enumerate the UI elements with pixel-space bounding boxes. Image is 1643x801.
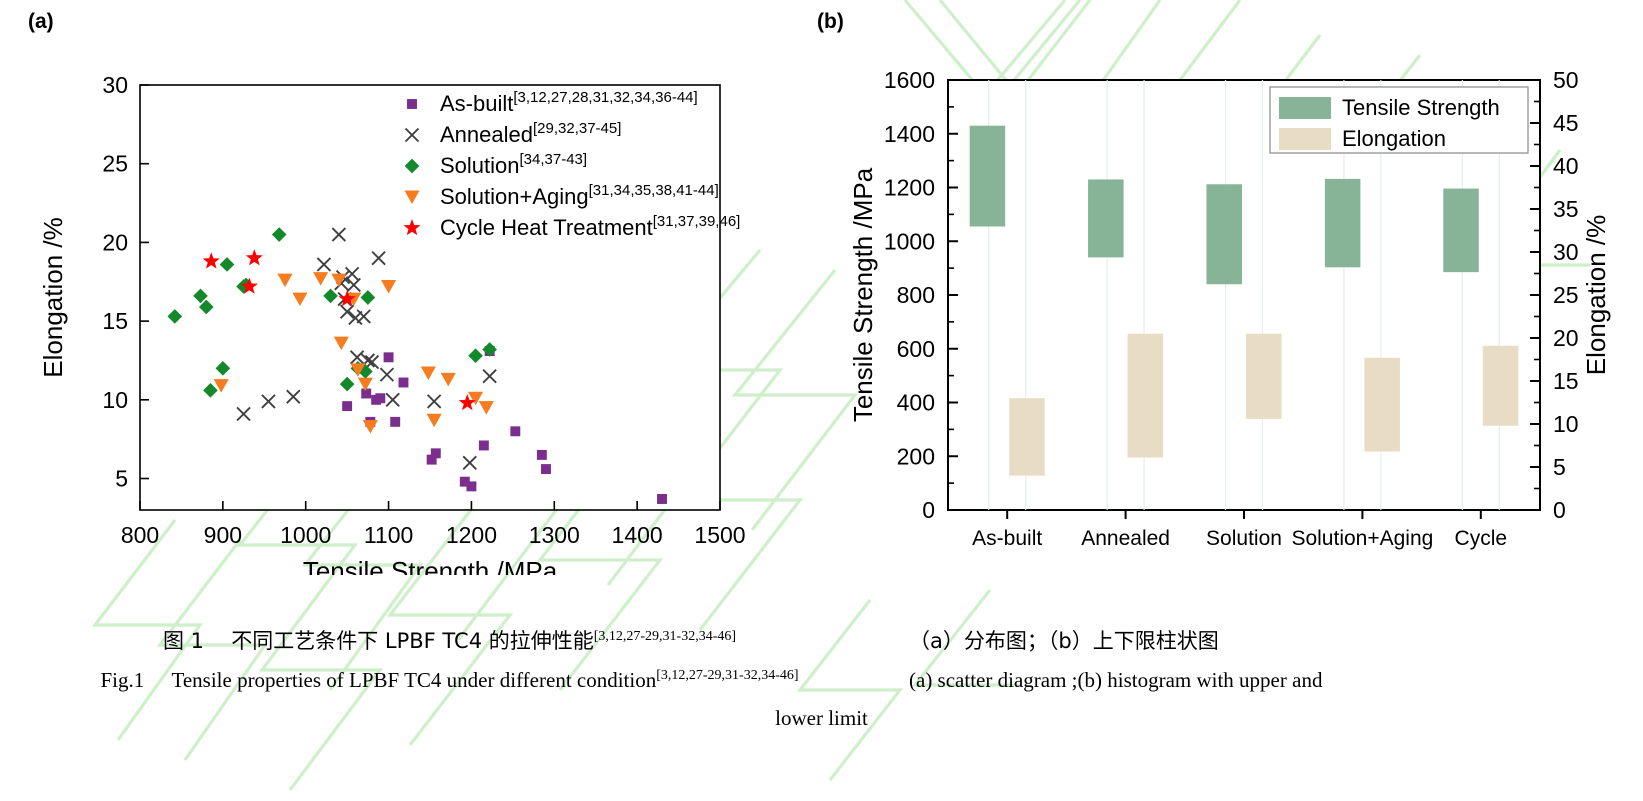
elongation-bar <box>1483 346 1519 426</box>
legend-swatch <box>1279 128 1331 150</box>
bar-legend: Tensile StrengthElongation <box>1270 87 1528 153</box>
marker-square <box>479 441 489 451</box>
legend-refs: [31,37,39,46] <box>653 213 741 230</box>
y-left-tick-label: 400 <box>897 390 935 416</box>
caption-cn-title: 不同工艺条件下 LPBF TC4 的拉伸性能 <box>231 629 594 653</box>
x-tick-label: 1300 <box>529 522 580 548</box>
y-left-axis-title: Tensile Strength /MPa <box>848 167 878 422</box>
scatter-svg: 8009001000110012001300140015005101520253… <box>20 55 780 575</box>
y-left-tick-label: 200 <box>897 443 935 469</box>
caption-cn-fig-no: 图 1 <box>163 629 204 653</box>
tensile-bar <box>1206 184 1242 284</box>
marker-square <box>657 494 667 504</box>
y-right-tick-label: 10 <box>1553 411 1579 437</box>
y-right-tick-label: 25 <box>1553 282 1579 308</box>
y-left-tick-label: 0 <box>922 497 935 523</box>
marker-square <box>375 393 385 403</box>
tensile-bar <box>1325 179 1361 267</box>
y-left-tick-label: 1600 <box>884 67 935 93</box>
bar-chart-panel-b: 0200400600800100012001400160005101520253… <box>840 55 1630 575</box>
marker-square <box>541 464 551 474</box>
x-tick-label: 1200 <box>446 522 497 548</box>
x-tick-label: 1000 <box>280 522 331 548</box>
legend-refs: [31,34,35,38,41-44] <box>589 182 719 199</box>
tensile-bar <box>1088 179 1124 257</box>
x-category-label: Cycle <box>1455 527 1508 550</box>
y-tick-label: 30 <box>102 72 128 98</box>
y-axis-title: Elongation /% <box>38 217 68 377</box>
y-right-tick-label: 0 <box>1553 497 1566 523</box>
marker-square <box>342 401 352 411</box>
marker-square <box>361 389 371 399</box>
y-left-tick-label: 1000 <box>884 228 935 254</box>
marker-square <box>407 99 417 109</box>
x-tick-label: 1400 <box>612 522 663 548</box>
x-category-label: Solution <box>1206 527 1282 550</box>
caption-en-fig-no: Fig.1 <box>100 668 144 692</box>
x-tick-label: 800 <box>121 522 159 548</box>
plot-frame <box>140 85 720 510</box>
y-tick-label: 5 <box>115 466 128 492</box>
marker-square <box>431 448 441 458</box>
legend-refs: [34,37-43] <box>520 151 588 168</box>
legend-label: Tensile Strength <box>1342 95 1500 120</box>
caption-cn-subtitle: （a）分布图；（b）上下限柱状图 <box>905 625 1643 655</box>
marker-square <box>537 450 547 460</box>
marker-square <box>390 417 400 427</box>
y-tick-label: 10 <box>102 387 128 413</box>
tensile-bar <box>1443 189 1479 273</box>
x-tick-label: 1500 <box>694 522 745 548</box>
y-right-tick-label: 40 <box>1553 153 1579 179</box>
y-right-tick-label: 5 <box>1553 454 1566 480</box>
y-right-tick-label: 35 <box>1553 196 1579 222</box>
elongation-bar <box>1009 398 1045 475</box>
x-category-label: Annealed <box>1081 527 1170 550</box>
y-right-tick-label: 20 <box>1553 325 1579 351</box>
x-tick-label: 1100 <box>364 522 413 548</box>
legend-swatch <box>1279 97 1331 119</box>
y-left-tick-label: 800 <box>897 282 935 308</box>
y-left-tick-label: 1200 <box>884 175 935 201</box>
elongation-bar <box>1246 334 1282 419</box>
panel-a-tag: (a) <box>28 10 54 34</box>
marker-square <box>510 426 520 436</box>
caption-en-title: Tensile properties of LPBF TC4 under dif… <box>171 668 656 692</box>
legend-refs: [3,12,27,28,31,32,34,36-44] <box>513 89 697 106</box>
legend-label: Elongation <box>1342 126 1446 151</box>
y-right-axis-title: Elongation /% <box>1581 215 1611 375</box>
y-right-tick-label: 15 <box>1553 368 1579 394</box>
scatter-chart-panel-a: 8009001000110012001300140015005101520253… <box>20 55 780 575</box>
marker-square <box>466 481 476 491</box>
x-category-label: As-built <box>972 527 1042 550</box>
marker-square <box>384 352 394 362</box>
caption-en-refs: [3,12,27-29,31-32,34-46] <box>656 668 798 683</box>
x-axis-title: Tensile Strength /MPa <box>303 556 558 575</box>
elongation-bar <box>1128 334 1164 458</box>
panel-b-tag: (b) <box>817 10 844 34</box>
y-right-tick-label: 30 <box>1553 239 1579 265</box>
marker-square <box>399 378 409 388</box>
y-left-tick-label: 1400 <box>884 121 935 147</box>
caption-en-line: Fig.1 Tensile properties of LPBF TC4 und… <box>0 668 905 693</box>
caption-cn-line: 图 1 不同工艺条件下 LPBF TC4 的拉伸性能[3,12,27-29,31… <box>0 625 905 655</box>
tensile-bar <box>970 126 1006 227</box>
y-tick-label: 15 <box>102 308 128 334</box>
legend-refs: [29,32,37-45] <box>533 120 621 137</box>
y-tick-label: 25 <box>102 151 128 177</box>
x-category-label: Solution+Aging <box>1291 527 1433 550</box>
y-right-tick-label: 45 <box>1553 110 1579 136</box>
y-right-tick-label: 50 <box>1553 67 1579 93</box>
caption-en-subtitle-2: lower limit <box>0 706 1643 731</box>
elongation-bar <box>1364 358 1400 452</box>
caption-en-subtitle: (a) scatter diagram ;(b) histogram with … <box>905 668 1643 693</box>
figure-caption: 图 1 不同工艺条件下 LPBF TC4 的拉伸性能[3,12,27-29,31… <box>0 625 1643 731</box>
caption-cn-refs: [3,12,27-29,31-32,34-46] <box>594 629 736 644</box>
x-tick-label: 900 <box>204 522 242 548</box>
bar-svg: 0200400600800100012001400160005101520253… <box>840 55 1630 575</box>
y-tick-label: 20 <box>102 229 128 255</box>
y-left-tick-label: 600 <box>897 336 935 362</box>
